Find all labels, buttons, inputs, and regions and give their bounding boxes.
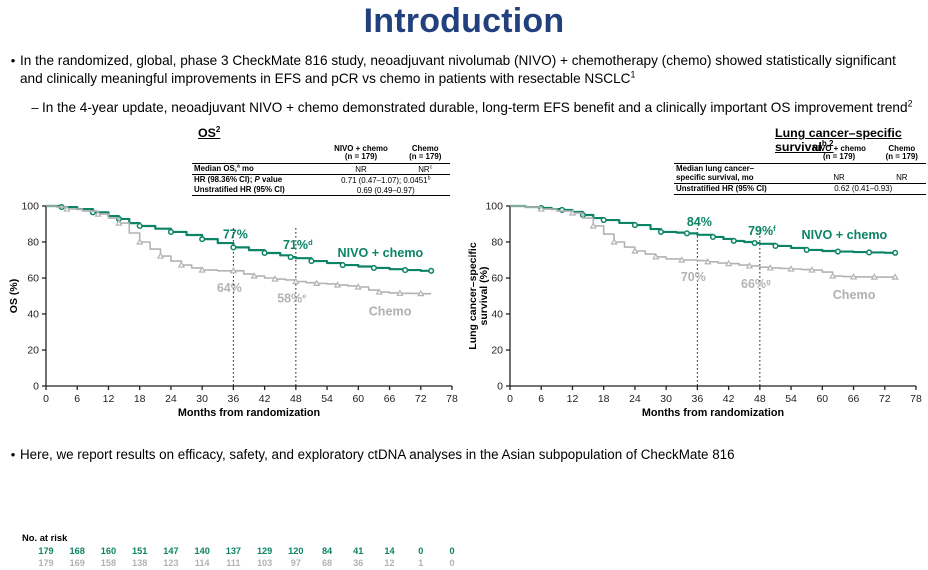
chart-os: 02040608010006121824303642485460667278Mo… [0,198,464,518]
table-row: Median lung cancer–specific survival, mo… [674,164,926,184]
risk-value: 68 [314,558,340,568]
page-title: Introduction [0,2,928,41]
risk-value: 14 [377,546,403,556]
bullet-marker: • [6,52,20,69]
svg-text:12: 12 [567,393,579,405]
svg-text:80: 80 [491,237,503,249]
bullet-text-1: In the randomized, global, phase 3 Check… [20,52,918,88]
risk-value: 169 [64,558,90,568]
svg-text:60: 60 [352,393,364,405]
svg-text:36: 36 [228,393,240,405]
svg-text:40: 40 [27,309,39,321]
row-label-hr-pvalue: HR (98.36% CI); P value [192,175,322,186]
svg-text:24: 24 [165,393,177,405]
svg-text:42: 42 [723,393,735,405]
svg-text:Chemo: Chemo [369,305,412,319]
svg-text:77%: 77% [223,227,248,241]
chart-lcss: 02040608010006121824303642485460667278Mo… [464,198,928,518]
risk-value: 1 [408,558,434,568]
svg-text:54: 54 [321,393,333,405]
risk-value: 158 [95,558,121,568]
risk-value: 138 [127,558,153,568]
row-label-unstratified-hr: Unstratified HR (95% CI) [674,183,801,194]
row-label-unstratified-hr: Unstratified HR (95% CI) [192,185,322,196]
svg-text:0: 0 [33,381,39,393]
risk-value: 114 [189,558,215,568]
svg-text:66: 66 [848,393,860,405]
chart-os-svg: 02040608010006121824303642485460667278Mo… [0,198,464,518]
table-row: Unstratified HR (95% CI) 0.69 (0.49–0.97… [192,185,450,196]
panel-os-heading: OS2 [198,126,220,140]
cell-median-lcss-nivo: NR [801,164,878,184]
svg-text:Months from randomization: Months from randomization [642,407,784,419]
bullet-superscript: 1 [630,69,635,79]
col-header-nivo: NIVO + chemo(n = 179) [322,144,401,164]
svg-text:NIVO + chemo: NIVO + chemo [337,246,423,260]
svg-text:0: 0 [507,393,513,405]
svg-text:100: 100 [21,201,39,213]
table-header-row: NIVO + chemo(n = 179) Chemo(n = 179) [674,144,926,164]
svg-text:60: 60 [27,273,39,285]
svg-text:66: 66 [384,393,396,405]
risk-value: 120 [283,546,309,556]
risk-value: 0 [408,546,434,556]
table-row: Unstratified HR (95% CI) 0.62 (0.41–0.93… [674,183,926,194]
risk-value: 84 [314,546,340,556]
risk-value: 0 [439,546,465,556]
svg-text:0: 0 [497,381,503,393]
bullet-text-2: In the 4-year update, neoadjuvant NIVO +… [42,99,918,117]
svg-text:30: 30 [660,393,672,405]
risk-value: 103 [252,558,278,568]
stats-table-lcss: NIVO + chemo(n = 179) Chemo(n = 179) Med… [674,144,926,195]
svg-text:6: 6 [538,393,544,405]
svg-text:60: 60 [491,273,503,285]
row-label-median-os: Median OS,a mo [192,164,322,175]
chart-lcss-svg: 02040608010006121824303642485460667278Mo… [464,198,928,518]
svg-text:20: 20 [491,345,503,357]
svg-text:100: 100 [485,201,503,213]
svg-text:survival (%): survival (%) [478,267,490,326]
risk-table-title: No. at risk [22,532,67,543]
risk-value: 179 [33,558,59,568]
svg-text:70%: 70% [681,270,706,284]
svg-text:30: 30 [196,393,208,405]
cell-hr-pvalue: 0.71 (0.47–1.07); 0.0451b [322,175,450,186]
svg-text:18: 18 [598,393,610,405]
svg-text:36: 36 [692,393,704,405]
svg-text:6: 6 [74,393,80,405]
table-row: Median OS,a mo NR NRc [192,164,450,175]
svg-text:78: 78 [910,393,922,405]
risk-value: 12 [377,558,403,568]
risk-value: 140 [189,546,215,556]
svg-text:0: 0 [43,393,49,405]
svg-text:79%f: 79%f [748,224,776,238]
svg-text:24: 24 [629,393,641,405]
table-row: HR (98.36% CI); P value 0.71 (0.47–1.07)… [192,175,450,186]
risk-value: 123 [158,558,184,568]
risk-value: 41 [345,546,371,556]
risk-value: 97 [283,558,309,568]
svg-text:12: 12 [103,393,115,405]
svg-text:40: 40 [491,309,503,321]
col-header-chemo: Chemo(n = 179) [400,144,450,164]
table-header-row: NIVO + chemo(n = 179) Chemo(n = 179) [192,144,450,164]
bullet-item-2: – In the 4-year update, neoadjuvant NIVO… [28,99,918,117]
svg-text:Chemo: Chemo [833,288,876,302]
col-header-chemo: Chemo(n = 179) [878,144,926,164]
svg-text:48: 48 [290,393,302,405]
risk-value: 0 [439,558,465,568]
bullet-item-1: • In the randomized, global, phase 3 Che… [6,52,918,88]
row-label-median-lcss: Median lung cancer–specific survival, mo [674,164,801,184]
risk-value: 147 [158,546,184,556]
risk-value: 179 [33,546,59,556]
svg-text:66%g: 66%g [741,277,771,291]
cell-unstratified-hr: 0.62 (0.41–0.93) [801,183,926,194]
svg-text:72: 72 [879,393,891,405]
svg-text:48: 48 [754,393,766,405]
svg-text:84%: 84% [687,215,712,229]
cell-median-lcss-chemo: NR [878,164,926,184]
svg-text:OS (%): OS (%) [8,279,20,313]
risk-row-chemo: 1791691581381231141111039768361210 [0,558,464,570]
svg-text:64%: 64% [217,281,242,295]
svg-text:71%d: 71%d [283,238,313,252]
svg-text:80: 80 [27,237,39,249]
svg-text:Months from randomization: Months from randomization [178,407,320,419]
risk-row-nivo: 17916816015114714013712912084411400 [0,546,464,558]
bullet-superscript: 2 [908,98,913,108]
svg-text:54: 54 [785,393,797,405]
risk-value: 111 [220,558,246,568]
svg-text:NIVO + chemo: NIVO + chemo [801,228,887,242]
svg-text:18: 18 [134,393,146,405]
svg-text:78: 78 [446,393,458,405]
col-header-nivo: NIVO + chemo(n = 179) [801,144,878,164]
svg-text:20: 20 [27,345,39,357]
risk-value: 160 [95,546,121,556]
risk-value: 36 [345,558,371,568]
svg-text:42: 42 [259,393,271,405]
svg-text:72: 72 [415,393,427,405]
svg-text:60: 60 [816,393,828,405]
risk-value: 137 [220,546,246,556]
cell-unstratified-hr: 0.69 (0.49–0.97) [322,185,450,196]
risk-value: 151 [127,546,153,556]
cell-median-os-nivo: NR [322,164,401,175]
svg-text:58%e: 58%e [277,292,306,306]
cell-median-os-chemo: NRc [400,164,450,175]
risk-value: 168 [64,546,90,556]
bullet-marker: – [28,99,42,116]
risk-value: 129 [252,546,278,556]
stats-table-os: NIVO + chemo(n = 179) Chemo(n = 179) Med… [192,144,450,196]
